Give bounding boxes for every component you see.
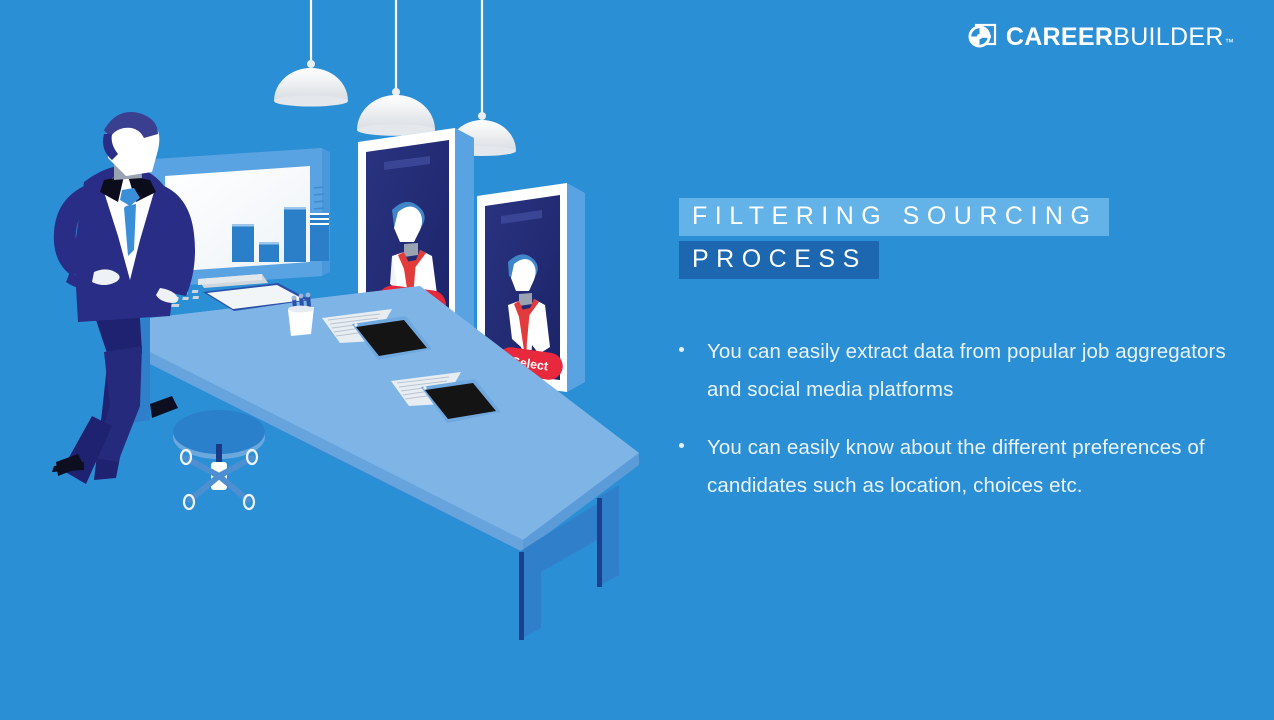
- bullet-text: You can easily know about the different …: [707, 429, 1237, 505]
- bullet-list: You can easily extract data from popular…: [679, 333, 1239, 505]
- bullet-dot-icon: [679, 443, 684, 448]
- bullet-text: You can easily extract data from popular…: [707, 333, 1237, 409]
- careerbuilder-logo-text: CAREERBUILDER™: [1006, 25, 1234, 50]
- pendant-lamp-2: [357, 0, 435, 136]
- office-stool: [173, 410, 265, 509]
- page-title-line-1: FILTERING SOURCING: [679, 198, 1109, 236]
- illustration-area: Select Select: [0, 0, 679, 720]
- content-panel: FILTERING SOURCING PROCESS You can easil…: [679, 198, 1239, 525]
- list-item: You can easily know about the different …: [679, 429, 1239, 505]
- pendant-lamp-1: [274, 0, 348, 107]
- logo-word-builder: BUILDER: [1113, 25, 1223, 50]
- logo-trademark: ™: [1225, 38, 1234, 47]
- page-title: FILTERING SOURCING PROCESS: [679, 198, 1239, 279]
- careerbuilder-logo-mark: [967, 22, 997, 52]
- careerbuilder-logo: CAREERBUILDER™: [967, 22, 1234, 52]
- page-title-line-2: PROCESS: [679, 241, 879, 279]
- logo-word-career: CAREER: [1006, 25, 1113, 50]
- list-item: You can easily extract data from popular…: [679, 333, 1239, 409]
- slide-root: Select Select: [0, 0, 1274, 720]
- pen-cup: [288, 293, 314, 336]
- bullet-dot-icon: [679, 347, 684, 352]
